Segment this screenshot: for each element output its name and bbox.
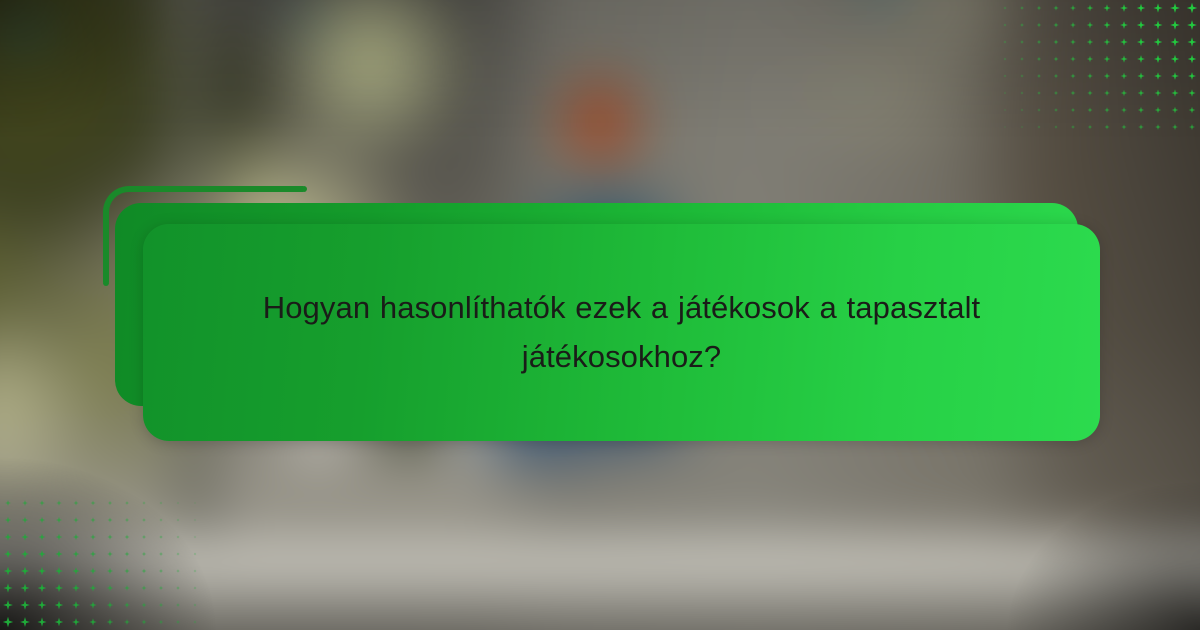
card-front-layer: Hogyan hasonlíthatók ezek a játékosok a … (143, 224, 1100, 441)
card-title: Hogyan hasonlíthatók ezek a játékosok a … (242, 284, 1002, 380)
og-card-stage: Hogyan hasonlíthatók ezek a játékosok a … (0, 0, 1200, 630)
